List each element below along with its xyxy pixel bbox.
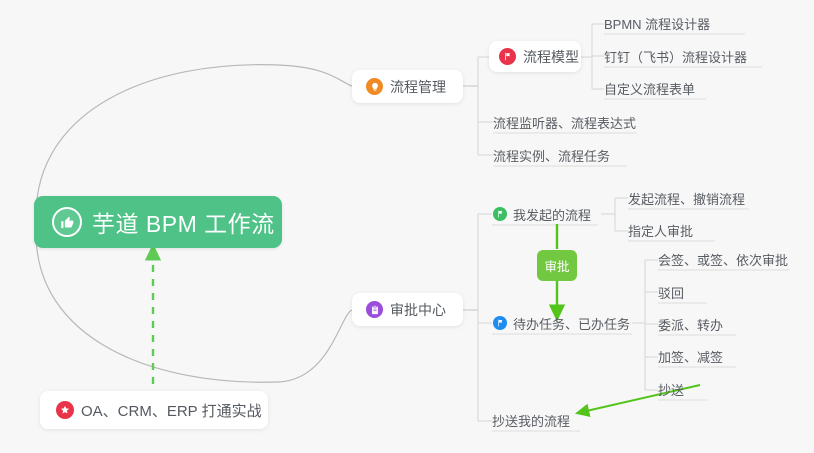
leaf-assignee-approval[interactable]: 指定人审批 — [628, 219, 693, 241]
clipboard-icon — [366, 301, 383, 318]
leaf-label-assignee-approval: 指定人审批 — [628, 221, 693, 240]
leaf-reject[interactable]: 驳回 — [658, 281, 684, 303]
leaf-label-custom-form: 自定义流程表单 — [604, 79, 695, 98]
root-label: 芋道 BPM 工作流 — [92, 205, 275, 239]
connector-root-to-approval-center — [36, 233, 352, 382]
leaf-label-start-cancel-flow: 发起流程、撤销流程 — [628, 189, 745, 208]
node-label-process-model: 流程模型 — [523, 47, 579, 67]
footer-node-integration[interactable]: OA、CRM、ERP 打通实战 — [40, 391, 268, 429]
branch-label-process-management: 流程管理 — [390, 77, 446, 97]
branch-node-approval-center[interactable]: 审批中心 — [352, 293, 463, 326]
flag-icon — [493, 316, 507, 330]
leaf-label-add-remove-sign: 加签、减签 — [658, 347, 723, 366]
leaf-cc-to-me[interactable]: 抄送我的流程 — [492, 409, 570, 431]
thumbs-up-icon — [52, 207, 82, 237]
leaf-custom-form[interactable]: 自定义流程表单 — [604, 77, 695, 99]
mindmap-canvas: 芋道 BPM 工作流 流程管理 流程模型 BPMN 流程设计器 钉钉（飞书）流程… — [0, 0, 814, 453]
leaf-label-dingtalk-designer: 钉钉（飞书）流程设计器 — [604, 47, 747, 66]
footer-node-label: OA、CRM、ERP 打通实战 — [81, 400, 262, 421]
node-my-started[interactable]: 我发起的流程 — [493, 203, 591, 225]
leaf-label-cc-to-me: 抄送我的流程 — [492, 411, 570, 430]
branch-node-process-management[interactable]: 流程管理 — [352, 70, 463, 103]
star-icon — [56, 401, 74, 419]
leaf-label-reject: 驳回 — [658, 283, 684, 302]
leaf-label-instance-task: 流程实例、流程任务 — [493, 146, 610, 165]
leaf-cc[interactable]: 抄送 — [658, 378, 684, 400]
connector-root-to-process-management — [36, 65, 352, 216]
node-label-todo-done: 待办任务、已办任务 — [513, 314, 630, 333]
branch-label-approval-center: 审批中心 — [390, 300, 446, 320]
leaf-label-countersign: 会签、或签、依次审批 — [658, 250, 788, 269]
flag-icon — [493, 207, 507, 221]
leaf-add-remove-sign[interactable]: 加签、减签 — [658, 345, 723, 367]
annotation-chip-approve: 审批 — [537, 250, 577, 281]
leaf-label-delegate-transfer: 委派、转办 — [658, 315, 723, 334]
leaf-label-cc: 抄送 — [658, 380, 684, 399]
annotation-chip-label: 审批 — [544, 256, 569, 275]
leaf-countersign[interactable]: 会签、或签、依次审批 — [658, 248, 788, 270]
node-label-my-started: 我发起的流程 — [513, 205, 591, 224]
leaf-bpmn-designer[interactable]: BPMN 流程设计器 — [604, 12, 710, 34]
root-node[interactable]: 芋道 BPM 工作流 — [34, 196, 282, 248]
node-process-model[interactable]: 流程模型 — [489, 41, 581, 72]
node-todo-done[interactable]: 待办任务、已办任务 — [493, 312, 630, 334]
leaf-label-bpmn-designer: BPMN 流程设计器 — [604, 14, 710, 33]
lightbulb-icon — [366, 78, 383, 95]
leaf-dingtalk-designer[interactable]: 钉钉（飞书）流程设计器 — [604, 45, 747, 67]
leaf-label-listener-expression: 流程监听器、流程表达式 — [493, 113, 636, 132]
leaf-delegate-transfer[interactable]: 委派、转办 — [658, 313, 723, 335]
leaf-instance-task[interactable]: 流程实例、流程任务 — [493, 144, 610, 166]
leaf-start-cancel-flow[interactable]: 发起流程、撤销流程 — [628, 187, 745, 209]
leaf-listener-expression[interactable]: 流程监听器、流程表达式 — [493, 111, 636, 133]
flag-icon — [499, 48, 516, 65]
